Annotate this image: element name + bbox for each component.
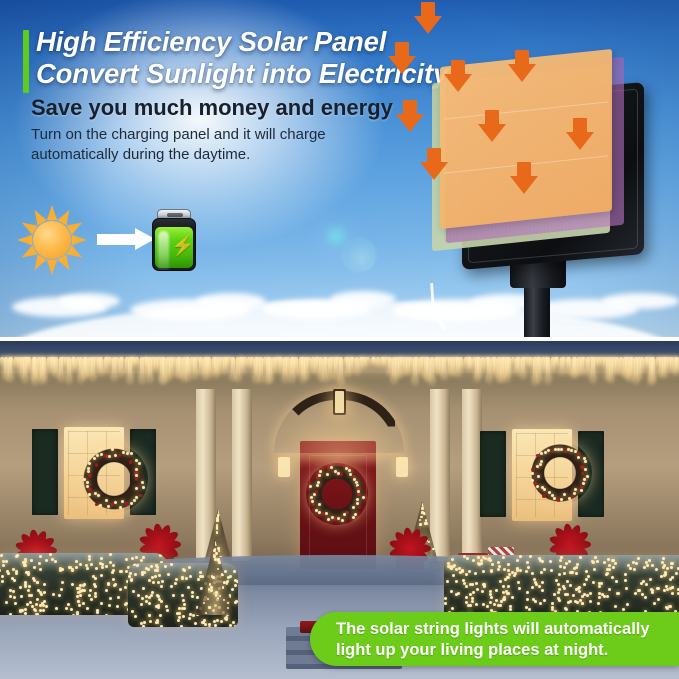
lit-wreath bbox=[306, 463, 368, 525]
window-shutter bbox=[32, 429, 58, 515]
top-solar-panel-section: High Efficiency Solar Panel Convert Sunl… bbox=[0, 0, 679, 337]
porch-lantern-icon bbox=[333, 389, 346, 415]
lit-wreath bbox=[528, 441, 592, 505]
wall-sconce bbox=[278, 457, 290, 477]
lens-flare-icon bbox=[322, 222, 350, 250]
lit-wreath bbox=[80, 445, 148, 513]
body-line-2: automatically during the daytime. bbox=[31, 145, 391, 165]
accent-bar bbox=[23, 30, 29, 93]
banner-line-2: light up your living places at night. bbox=[336, 640, 676, 661]
body-line-1: Turn on the charging panel and it will c… bbox=[31, 125, 391, 145]
banner-line-1: The solar string lights will automatical… bbox=[336, 619, 676, 640]
lightning-bolt-icon: ⚡ bbox=[171, 237, 195, 256]
sun-icon bbox=[16, 204, 88, 276]
porch-column bbox=[232, 389, 252, 561]
promo-banner: The solar string lights will automatical… bbox=[310, 612, 679, 666]
product-marketing-image: High Efficiency Solar Panel Convert Sunl… bbox=[0, 0, 679, 679]
subheadline: Save you much money and energy bbox=[31, 94, 451, 122]
porch-column bbox=[462, 389, 482, 561]
power-cable bbox=[430, 277, 520, 337]
porch-column bbox=[430, 389, 450, 561]
promo-banner-text: The solar string lights will automatical… bbox=[336, 619, 676, 661]
right-arrow-icon bbox=[97, 228, 157, 250]
window-shutter bbox=[480, 431, 506, 517]
charged-battery-icon: ⚡ bbox=[152, 209, 196, 271]
wall-sconce bbox=[396, 457, 408, 477]
body-text: Turn on the charging panel and it will c… bbox=[31, 125, 391, 164]
